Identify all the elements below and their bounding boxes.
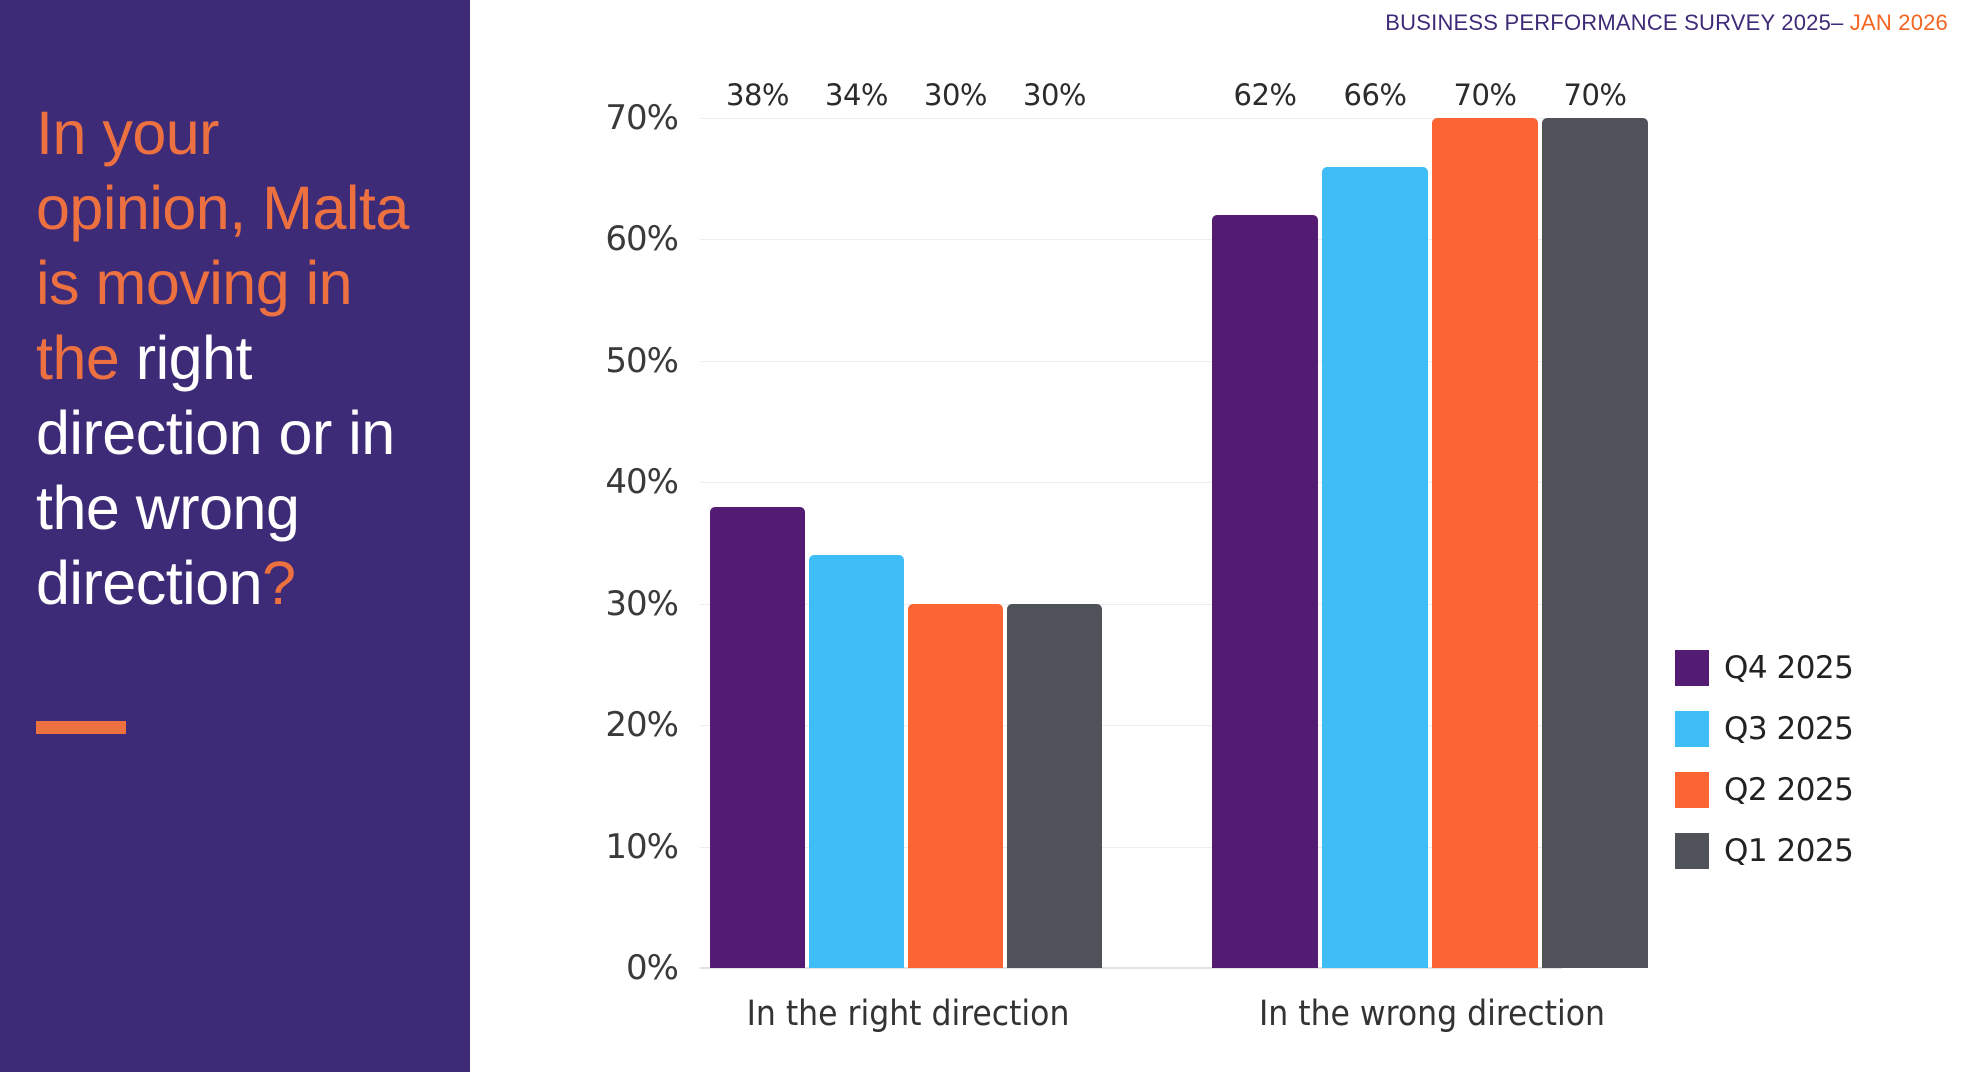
bar[interactable] bbox=[1007, 604, 1102, 968]
bar-column[interactable]: 30% bbox=[1007, 118, 1102, 968]
bar-value-label: 38% bbox=[726, 78, 789, 112]
bar-value-label: 30% bbox=[1023, 78, 1086, 112]
bar-value-label: 66% bbox=[1344, 78, 1407, 112]
y-axis-tick-label: 70% bbox=[605, 98, 678, 138]
legend-item[interactable]: Q2 2025 bbox=[1675, 772, 1853, 808]
chart: 70%60%50%40%30%20%10%0% 38%34%30%30%In t… bbox=[470, 0, 1974, 1072]
legend-item[interactable]: Q3 2025 bbox=[1675, 711, 1853, 747]
legend-swatch bbox=[1675, 711, 1709, 747]
legend: Q4 2025Q3 2025Q2 2025Q1 2025 bbox=[1675, 650, 1853, 869]
bar-group: 38%34%30%30%In the right direction bbox=[710, 118, 1106, 968]
bar[interactable] bbox=[1542, 118, 1648, 968]
legend-label: Q4 2025 bbox=[1724, 650, 1853, 686]
legend-swatch bbox=[1675, 833, 1709, 869]
bar-group: 62%66%70%70%In the wrong direction bbox=[1212, 118, 1652, 968]
x-axis-category-label: In the wrong direction bbox=[1259, 994, 1605, 1034]
slide: In your opinion, Malta is moving in the … bbox=[0, 0, 1974, 1072]
legend-item[interactable]: Q1 2025 bbox=[1675, 833, 1853, 869]
legend-swatch bbox=[1675, 650, 1709, 686]
y-axis-tick-label: 10% bbox=[605, 827, 678, 867]
legend-item[interactable]: Q4 2025 bbox=[1675, 650, 1853, 686]
bar-column[interactable]: 70% bbox=[1542, 118, 1648, 968]
y-axis-tick-label: 50% bbox=[605, 341, 678, 381]
bar-value-label: 62% bbox=[1234, 78, 1297, 112]
bar-value-label: 30% bbox=[924, 78, 987, 112]
bar[interactable] bbox=[908, 604, 1003, 968]
bar-column[interactable]: 66% bbox=[1322, 118, 1428, 968]
y-axis-tick-label: 0% bbox=[626, 948, 678, 988]
bar[interactable] bbox=[809, 555, 904, 968]
bar[interactable] bbox=[1432, 118, 1538, 968]
bar-value-label: 34% bbox=[825, 78, 888, 112]
y-axis-tick-label: 60% bbox=[605, 219, 678, 259]
bar-column[interactable]: 34% bbox=[809, 118, 904, 968]
y-axis-tick-label: 30% bbox=[605, 584, 678, 624]
legend-label: Q3 2025 bbox=[1724, 711, 1853, 747]
legend-label: Q1 2025 bbox=[1724, 833, 1853, 869]
y-axis-tick-label: 20% bbox=[605, 705, 678, 745]
page-title: In your opinion, Malta is moving in the … bbox=[36, 96, 436, 621]
bar[interactable] bbox=[1322, 167, 1428, 968]
left-panel: In your opinion, Malta is moving in the … bbox=[0, 0, 470, 1072]
bar-column[interactable]: 70% bbox=[1432, 118, 1538, 968]
legend-label: Q2 2025 bbox=[1724, 772, 1853, 808]
x-axis-category-label: In the right direction bbox=[747, 994, 1070, 1034]
accent-underline-bar bbox=[36, 721, 126, 734]
bar-value-label: 70% bbox=[1454, 78, 1517, 112]
bar[interactable] bbox=[1212, 215, 1318, 968]
bar-column[interactable]: 38% bbox=[710, 118, 805, 968]
plot-area: 70%60%50%40%30%20%10%0% 38%34%30%30%In t… bbox=[700, 118, 1562, 968]
bar-value-label: 70% bbox=[1564, 78, 1627, 112]
legend-swatch bbox=[1675, 772, 1709, 808]
bar[interactable] bbox=[710, 507, 805, 968]
question-mark: ? bbox=[262, 549, 295, 617]
bar-column[interactable]: 30% bbox=[908, 118, 1003, 968]
y-axis-tick-label: 40% bbox=[605, 462, 678, 502]
bar-column[interactable]: 62% bbox=[1212, 118, 1318, 968]
